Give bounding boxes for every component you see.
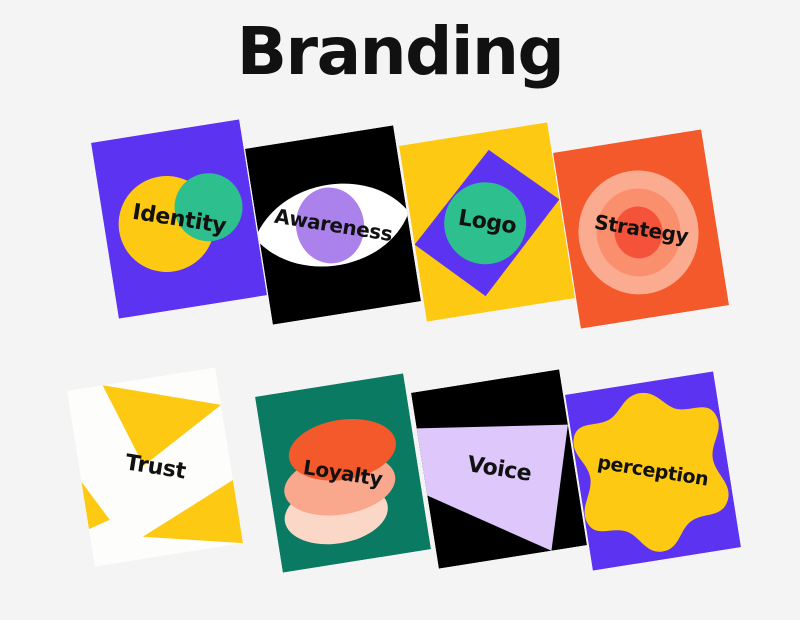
card-strategy-artwork (553, 129, 729, 328)
card-perception-artwork (565, 371, 741, 570)
card-loyalty-artwork (255, 373, 431, 572)
card-voice[interactable]: Voice (411, 369, 587, 568)
card-identity-artwork (91, 119, 267, 318)
card-trust[interactable]: Trust (67, 367, 243, 566)
card-perception[interactable]: perception (565, 371, 741, 570)
page-title: Branding (0, 14, 800, 90)
card-strategy[interactable]: Strategy (553, 129, 729, 328)
card-awareness-artwork (245, 125, 421, 324)
card-trust-artwork (67, 367, 243, 566)
card-voice-artwork (411, 369, 587, 568)
poster-canvas: Branding Identity Awareness (0, 0, 800, 620)
card-logo[interactable]: Logo (399, 122, 575, 321)
card-identity[interactable]: Identity (91, 119, 267, 318)
card-logo-artwork (399, 122, 575, 321)
card-awareness[interactable]: Awareness (245, 125, 421, 324)
card-loyalty[interactable]: Loyalty (255, 373, 431, 572)
